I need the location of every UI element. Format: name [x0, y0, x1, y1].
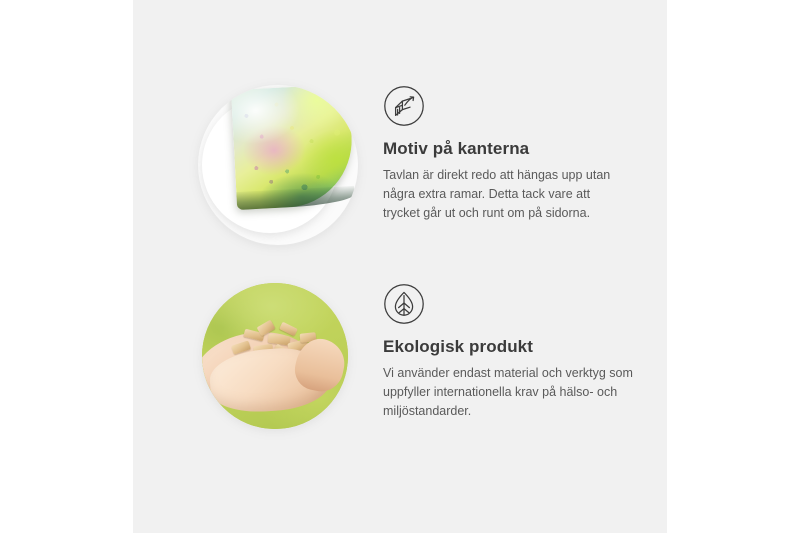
page-root: Motiv på kanterna Tavlan är direkt redo … [0, 0, 800, 533]
feature-1-text-block: Motiv på kanterna Tavlan är direkt redo … [383, 85, 663, 223]
feature-1-description: Tavlan är direkt redo att hängas upp uta… [383, 166, 623, 223]
feature-2-image [202, 283, 348, 429]
feature-item-eco-product: Ekologisk produkt Vi använder endast mat… [133, 268, 667, 438]
canvas-print-corner [231, 85, 355, 210]
leaf-icon [383, 283, 425, 325]
feature-list: Motiv på kanterna Tavlan är direkt redo … [133, 0, 667, 533]
canvas-edge-print-icon [383, 85, 425, 127]
feature-2-text-block: Ekologisk produkt Vi använder endast mat… [383, 283, 673, 421]
feature-item-canvas-edges: Motiv på kanterna Tavlan är direkt redo … [133, 85, 667, 255]
feature-2-description: Vi använder endast material och verktyg … [383, 364, 645, 421]
feature-2-title: Ekologisk produkt [383, 337, 673, 357]
content-panel: Motiv på kanterna Tavlan är direkt redo … [133, 0, 667, 533]
feature-1-image [198, 85, 358, 245]
meadow-background [202, 283, 348, 429]
feature-1-title: Motiv på kanterna [383, 139, 663, 159]
